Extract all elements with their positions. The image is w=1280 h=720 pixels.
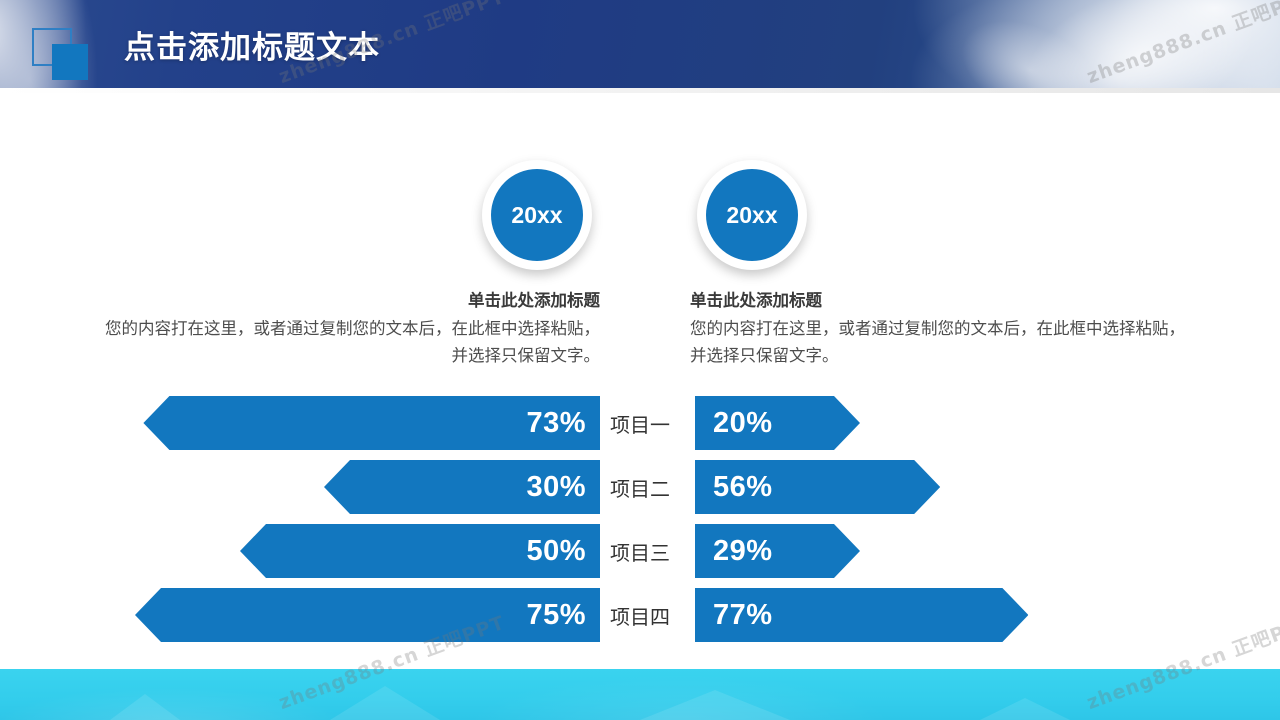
bar-row: 75%项目四77% <box>0 588 1280 642</box>
bar-category-label: 项目四 <box>600 588 680 642</box>
bar-left-value: 73% <box>526 407 586 440</box>
description-left-body: 您的内容打在这里，或者通过复制您的文本后，在此框中选择粘贴，并选择只保留文字。 <box>95 316 600 370</box>
bar-category-label: 项目三 <box>600 524 680 578</box>
page-title: 点击添加标题文本 <box>124 0 380 88</box>
year-badge-left[interactable]: 20xx <box>482 160 592 270</box>
footer-triangle-icon <box>980 698 1070 720</box>
bar-right[interactable]: 29% <box>695 524 860 578</box>
bar-right[interactable]: 56% <box>695 460 940 514</box>
bar-right[interactable]: 20% <box>695 396 860 450</box>
cloud-wisp-icon <box>949 0 1280 88</box>
footer-triangle-icon <box>330 686 440 720</box>
bar-right-value: 29% <box>713 535 773 568</box>
year-badge-left-label: 20xx <box>491 169 583 261</box>
slide-canvas: 点击添加标题文本 20xx 20xx 单击此处添加标题 您的内容打在这里，或者通… <box>0 0 1280 720</box>
slide-footer-band <box>0 669 1280 720</box>
bar-right-value: 56% <box>713 471 773 504</box>
description-right-title: 单击此处添加标题 <box>690 288 1195 314</box>
bar-category-label: 项目二 <box>600 460 680 514</box>
diverging-bar-chart: 73%项目一20%30%项目二56%50%项目三29%75%项目四77% <box>0 396 1280 644</box>
bar-left[interactable]: 75% <box>135 588 600 642</box>
bar-row: 50%项目三29% <box>0 524 1280 578</box>
year-badge-right-label: 20xx <box>706 169 798 261</box>
bar-left[interactable]: 50% <box>240 524 600 578</box>
cloud-wisp-secondary-icon <box>914 0 1146 88</box>
bar-left-value: 30% <box>526 471 586 504</box>
square-overlap-logo-icon <box>32 28 88 80</box>
description-right-body: 您的内容打在这里，或者通过复制您的文本后，在此框中选择粘贴，并选择只保留文字。 <box>690 316 1195 370</box>
bar-right-value: 77% <box>713 599 773 632</box>
bar-left[interactable]: 30% <box>324 460 600 514</box>
description-block-left: 单击此处添加标题 您的内容打在这里，或者通过复制您的文本后，在此框中选择粘贴，并… <box>95 288 600 370</box>
footer-triangle-icon <box>110 694 180 720</box>
bar-left-value: 50% <box>526 535 586 568</box>
footer-triangle-icon <box>640 690 790 720</box>
logo-filled-square-icon <box>52 44 88 80</box>
year-badge-right[interactable]: 20xx <box>697 160 807 270</box>
bar-left[interactable]: 73% <box>143 396 600 450</box>
description-left-title: 单击此处添加标题 <box>95 288 600 314</box>
bar-left-value: 75% <box>526 599 586 632</box>
bar-row: 73%项目一20% <box>0 396 1280 450</box>
description-block-right: 单击此处添加标题 您的内容打在这里，或者通过复制您的文本后，在此框中选择粘贴，并… <box>690 288 1195 370</box>
bar-row: 30%项目二56% <box>0 460 1280 514</box>
bar-right-value: 20% <box>713 407 773 440</box>
bar-right[interactable]: 77% <box>695 588 1028 642</box>
bar-category-label: 项目一 <box>600 396 680 450</box>
header-divider <box>0 88 1280 93</box>
